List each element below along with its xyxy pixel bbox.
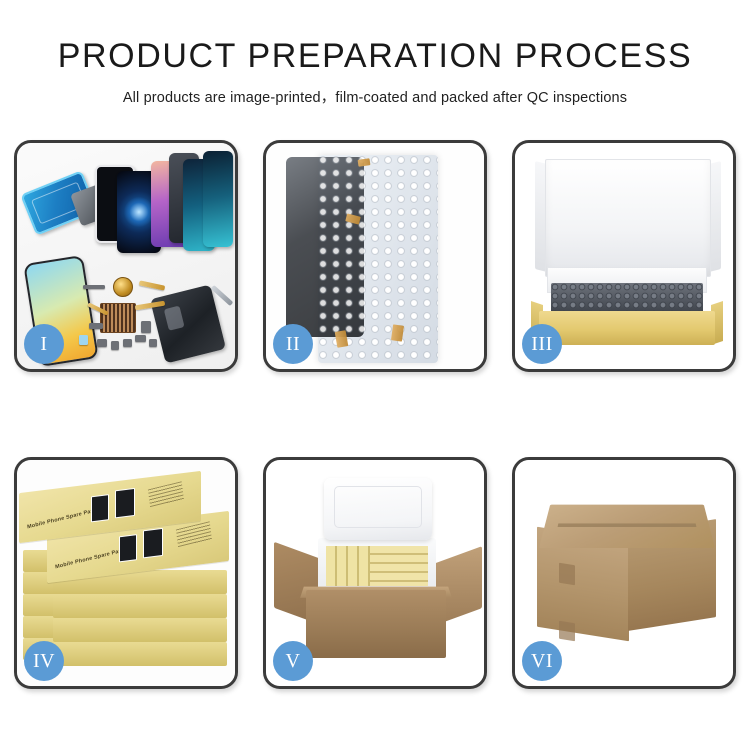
step-badge-5: V bbox=[273, 641, 313, 681]
kraft-box-base bbox=[539, 311, 715, 345]
box-window-image-1a bbox=[91, 494, 109, 522]
small-chip-4 bbox=[135, 335, 146, 342]
box-window-image-1b bbox=[115, 488, 135, 518]
step-badge-4: IV bbox=[24, 641, 64, 681]
page-title: PRODUCT PREPARATION PROCESS bbox=[0, 38, 750, 75]
small-glass-part bbox=[79, 335, 88, 345]
box-spec-lines-2 bbox=[176, 521, 212, 549]
white-box-lid bbox=[545, 159, 711, 277]
flex-cable-1 bbox=[139, 280, 165, 290]
page-subtitle: All products are image-printed，film-coat… bbox=[0, 86, 750, 107]
stacked-box-front-4 bbox=[53, 618, 227, 642]
phone-back-cover bbox=[150, 284, 226, 363]
box-window-image-2b bbox=[143, 528, 163, 558]
process-step-panel-6[interactable]: VI bbox=[512, 457, 736, 689]
logic-board-part bbox=[100, 303, 136, 333]
box-window-image-2a bbox=[119, 534, 137, 562]
box-label-text-2: Mobile Phone Spare Parts bbox=[55, 547, 127, 570]
small-chip-2 bbox=[111, 341, 119, 350]
header: PRODUCT PREPARATION PROCESS All products… bbox=[0, 38, 750, 107]
gold-coil-part bbox=[113, 277, 133, 297]
small-chip-6 bbox=[141, 321, 151, 333]
small-chip-5 bbox=[89, 323, 103, 329]
small-chip-1 bbox=[97, 339, 107, 347]
carton-top-face bbox=[539, 505, 715, 548]
connector-strip-part bbox=[83, 285, 105, 289]
process-step-panel-5[interactable]: V bbox=[263, 457, 487, 689]
carton-tape-lower bbox=[559, 621, 575, 642]
box-spec-lines-1 bbox=[148, 481, 184, 509]
product-preparation-infographic: PRODUCT PREPARATION PROCESS All products… bbox=[0, 0, 750, 750]
stacked-box-front-3 bbox=[53, 594, 227, 618]
step-badge-6: VI bbox=[522, 641, 562, 681]
small-chip-3 bbox=[123, 339, 132, 347]
small-chip-7 bbox=[149, 339, 157, 347]
process-step-panel-2[interactable]: II bbox=[263, 140, 487, 372]
yellow-boxes-inside bbox=[326, 546, 428, 586]
step-badge-3: III bbox=[522, 324, 562, 364]
process-step-panel-4[interactable]: Mobile Phone Spare Parts Mobile Phone Sp… bbox=[14, 457, 238, 689]
stacked-box-front-5 bbox=[53, 642, 227, 666]
process-step-panel-1[interactable]: I bbox=[14, 140, 238, 372]
process-step-panel-3[interactable]: III bbox=[512, 140, 736, 372]
step-badge-1: I bbox=[24, 324, 64, 364]
step-badge-2: II bbox=[273, 324, 313, 364]
teal-phone-2 bbox=[203, 151, 233, 247]
carton-front-face bbox=[306, 590, 446, 658]
wrapped-screen-assembly bbox=[286, 157, 364, 337]
box-label-text-1: Mobile Phone Spare Parts bbox=[27, 507, 99, 530]
foam-box-lid bbox=[324, 478, 432, 540]
process-step-grid: I II bbox=[14, 140, 736, 689]
carton-tape-upper bbox=[559, 563, 575, 586]
tape-piece-bottom-right bbox=[391, 324, 404, 341]
